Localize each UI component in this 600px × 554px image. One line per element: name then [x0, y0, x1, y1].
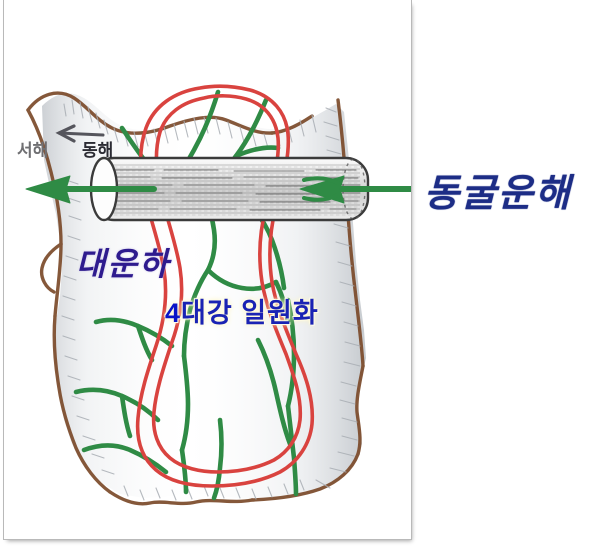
label-west-sea: 서해 — [17, 142, 48, 159]
label-east-sea: 동해 — [82, 142, 113, 159]
label-four-rivers-number: 4 — [165, 298, 181, 328]
label-four-rivers-unification: 4대강 일원화 — [165, 300, 319, 327]
label-grand-canal: 대운하 — [76, 248, 170, 280]
label-four-rivers-text: 대강 일원화 — [181, 298, 319, 328]
label-tunnel-canal: 동굴운해 — [424, 162, 572, 217]
map-panel: 서해 동해 대운하 4대강 일원화 — [3, 0, 412, 540]
hand-drawn-map — [4, 0, 412, 540]
